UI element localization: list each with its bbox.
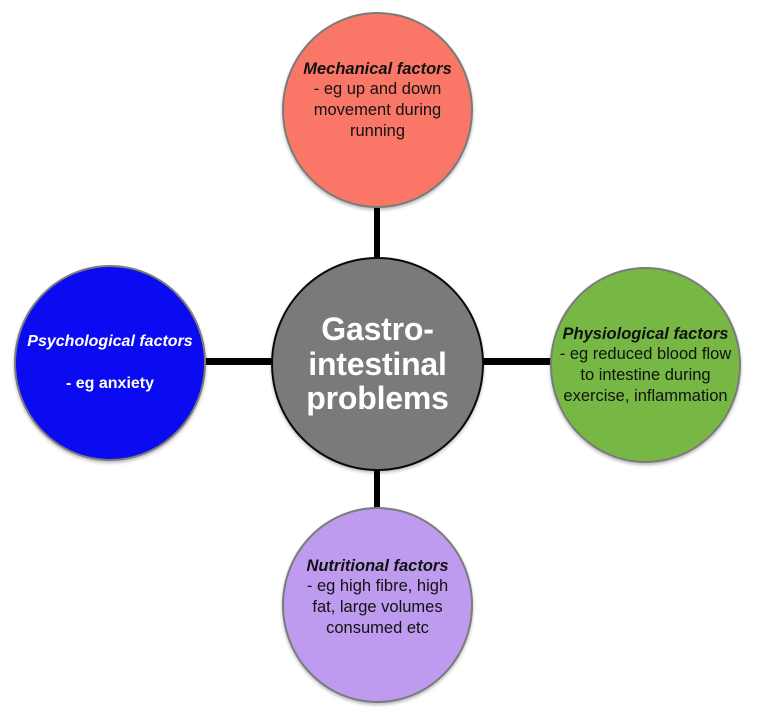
node-gastro-intestinal-problems[interactable]: Gastro- intestinal problems [271, 257, 484, 471]
connector-center-to-physiological [479, 358, 557, 365]
connector-center-to-psychological [198, 358, 276, 365]
node-psychological-factors[interactable]: Psychological factors - eg anxiety [14, 265, 206, 461]
node-mechanical-body: - eg up and down movement during running [298, 79, 457, 141]
node-nutritional-body: - eg high fibre, high fat, large volumes… [298, 576, 457, 638]
node-mechanical-factors[interactable]: Mechanical factors - eg up and down move… [282, 12, 473, 208]
connector-center-to-mechanical [374, 203, 380, 261]
node-mechanical-title: Mechanical factors [298, 59, 457, 79]
node-nutritional-title: Nutritional factors [298, 556, 457, 576]
concept-map-diagram: Mechanical factors - eg up and down move… [0, 0, 764, 715]
node-nutritional-label: Nutritional factors - eg high fibre, hig… [284, 556, 471, 639]
node-psychological-body: - eg anxiety [24, 374, 196, 394]
center-node-title-line-1: Gastro- [306, 312, 448, 347]
node-physiological-title: Physiological factors [558, 324, 733, 344]
node-psychological-title: Psychological factors [24, 332, 196, 352]
center-node-title-line-2: intestinal [306, 347, 448, 382]
node-mechanical-label: Mechanical factors - eg up and down move… [284, 59, 471, 142]
center-node-title-line-3: problems [306, 381, 448, 416]
node-physiological-factors[interactable]: Physiological factors - eg reduced blood… [550, 267, 741, 463]
node-physiological-body: - eg reduced blood flow to intestine dur… [558, 344, 733, 406]
node-physiological-label: Physiological factors - eg reduced blood… [552, 324, 739, 407]
node-psychological-label: Psychological factors - eg anxiety [16, 332, 204, 394]
node-nutritional-factors[interactable]: Nutritional factors - eg high fibre, hig… [282, 507, 473, 703]
center-node-title: Gastro- intestinal problems [296, 312, 458, 417]
